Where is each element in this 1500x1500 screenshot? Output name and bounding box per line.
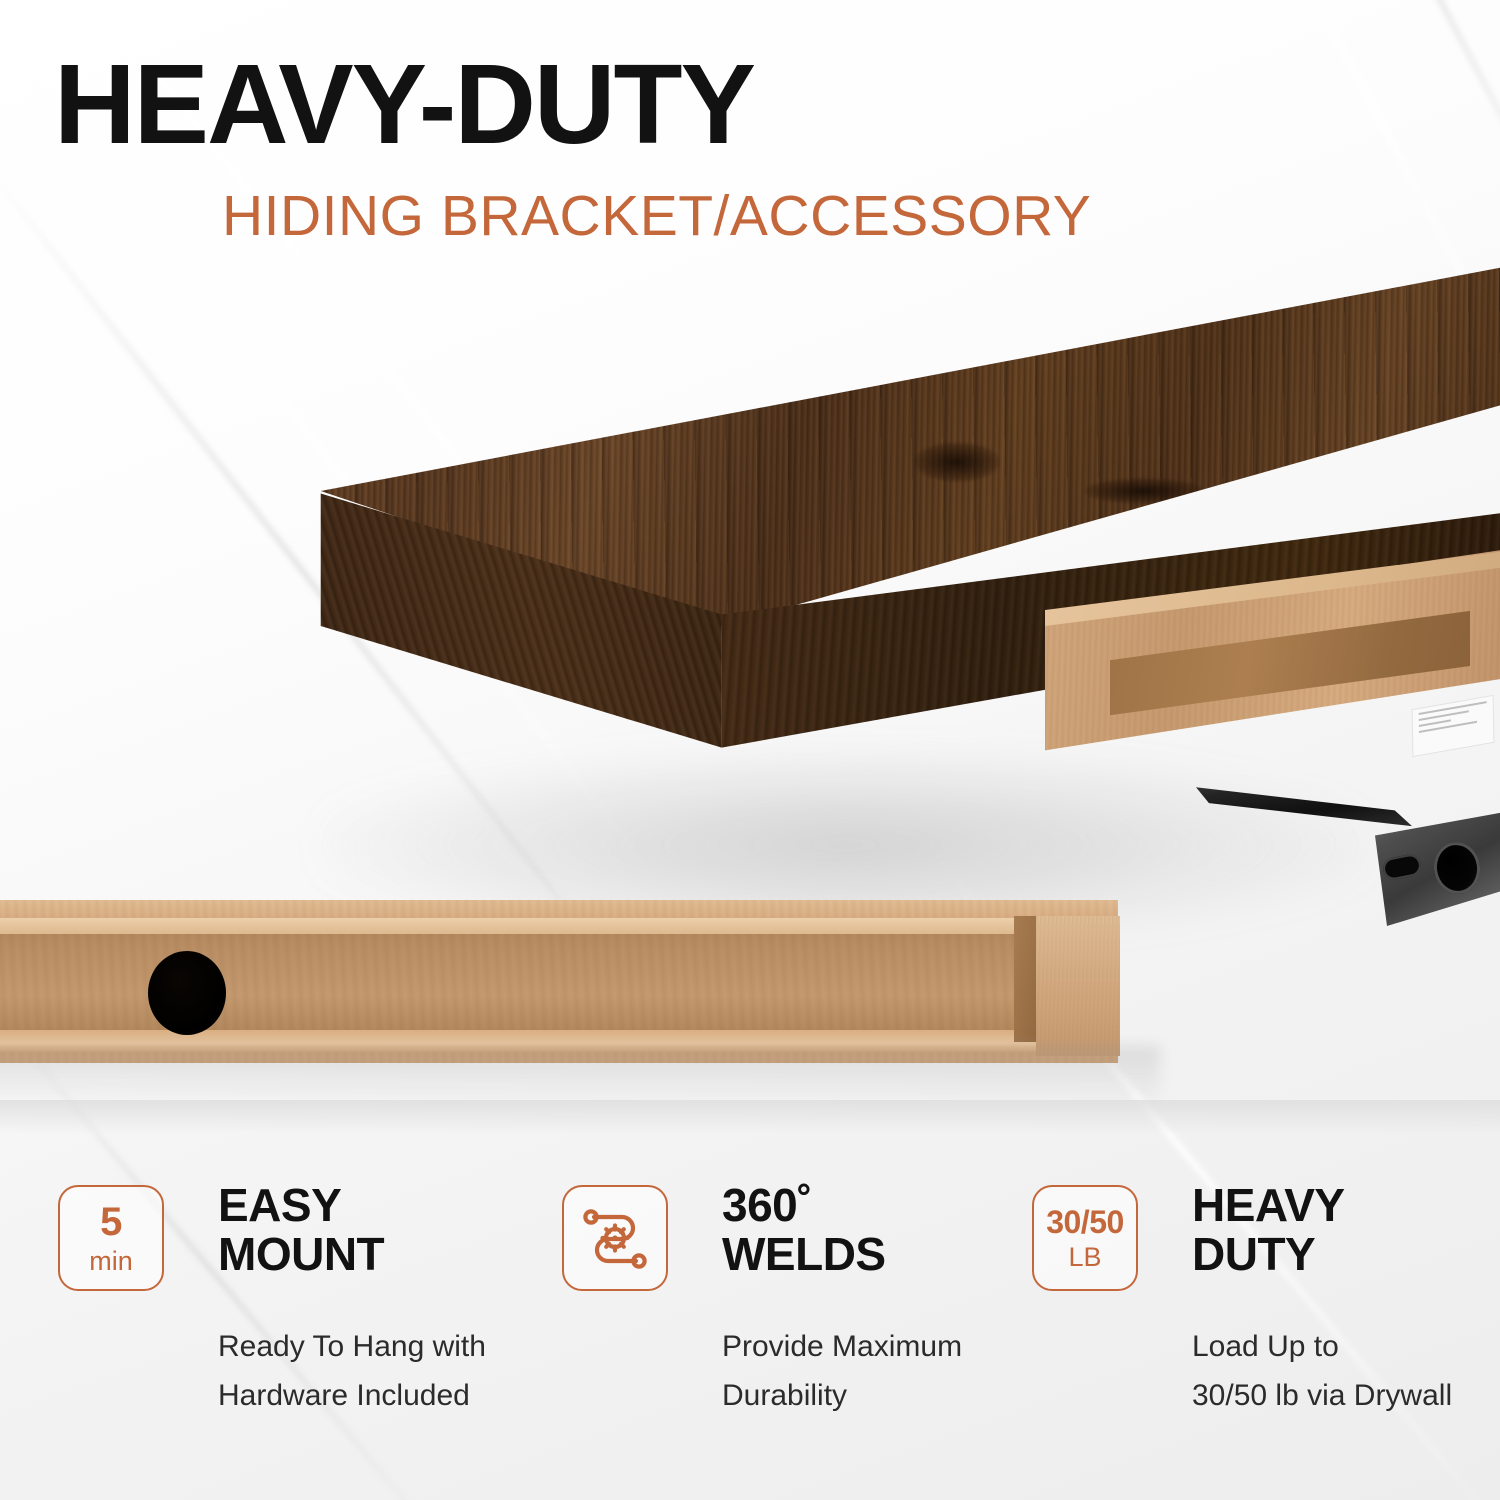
- product-label-sticker: [1412, 695, 1495, 757]
- badge-value: 30/50: [1046, 1206, 1124, 1238]
- page-subtitle: HIDING BRACKET/ACCESSORY: [222, 188, 1091, 245]
- feature-description: Load Up to 30/50 lb via Drywall: [1192, 1323, 1500, 1420]
- feature-description: Provide Maximum Durability: [722, 1323, 1052, 1420]
- badge-unit: LB: [1068, 1244, 1101, 1271]
- clock-badge-icon: 5 min: [58, 1185, 164, 1291]
- feature-list: 5 min EASY MOUNT Ready To Hang with Hard…: [0, 1175, 1500, 1475]
- cross-section-top-wall: [0, 918, 1118, 934]
- feature-description: Ready To Hang with Hardware Included: [218, 1323, 548, 1420]
- weld-path-gear-icon: [562, 1185, 668, 1291]
- cross-section-shadow: [0, 1046, 1160, 1106]
- page-title: HEAVY-DUTY: [54, 48, 754, 161]
- cross-section-mounting-hole: [148, 951, 226, 1035]
- feature-heading: HEAVY DUTY: [1192, 1181, 1345, 1279]
- hero-product-photo: [0, 250, 1500, 870]
- feature-heading: EASY MOUNT: [218, 1181, 384, 1279]
- product-marketing-banner: HEAVY-DUTY HIDING BRACKET/ACCESSORY: [0, 0, 1500, 1500]
- feature-heading: 360˚ WELDS: [722, 1181, 886, 1279]
- cross-section-right-cap: [1036, 916, 1120, 1056]
- section-divider-shadow: [0, 1100, 1500, 1134]
- badge-unit: min: [89, 1248, 133, 1275]
- weight-badge-icon: 30/50 LB: [1032, 1185, 1138, 1291]
- weld-path-glyph: [582, 1207, 648, 1269]
- badge-value: 5: [100, 1202, 122, 1242]
